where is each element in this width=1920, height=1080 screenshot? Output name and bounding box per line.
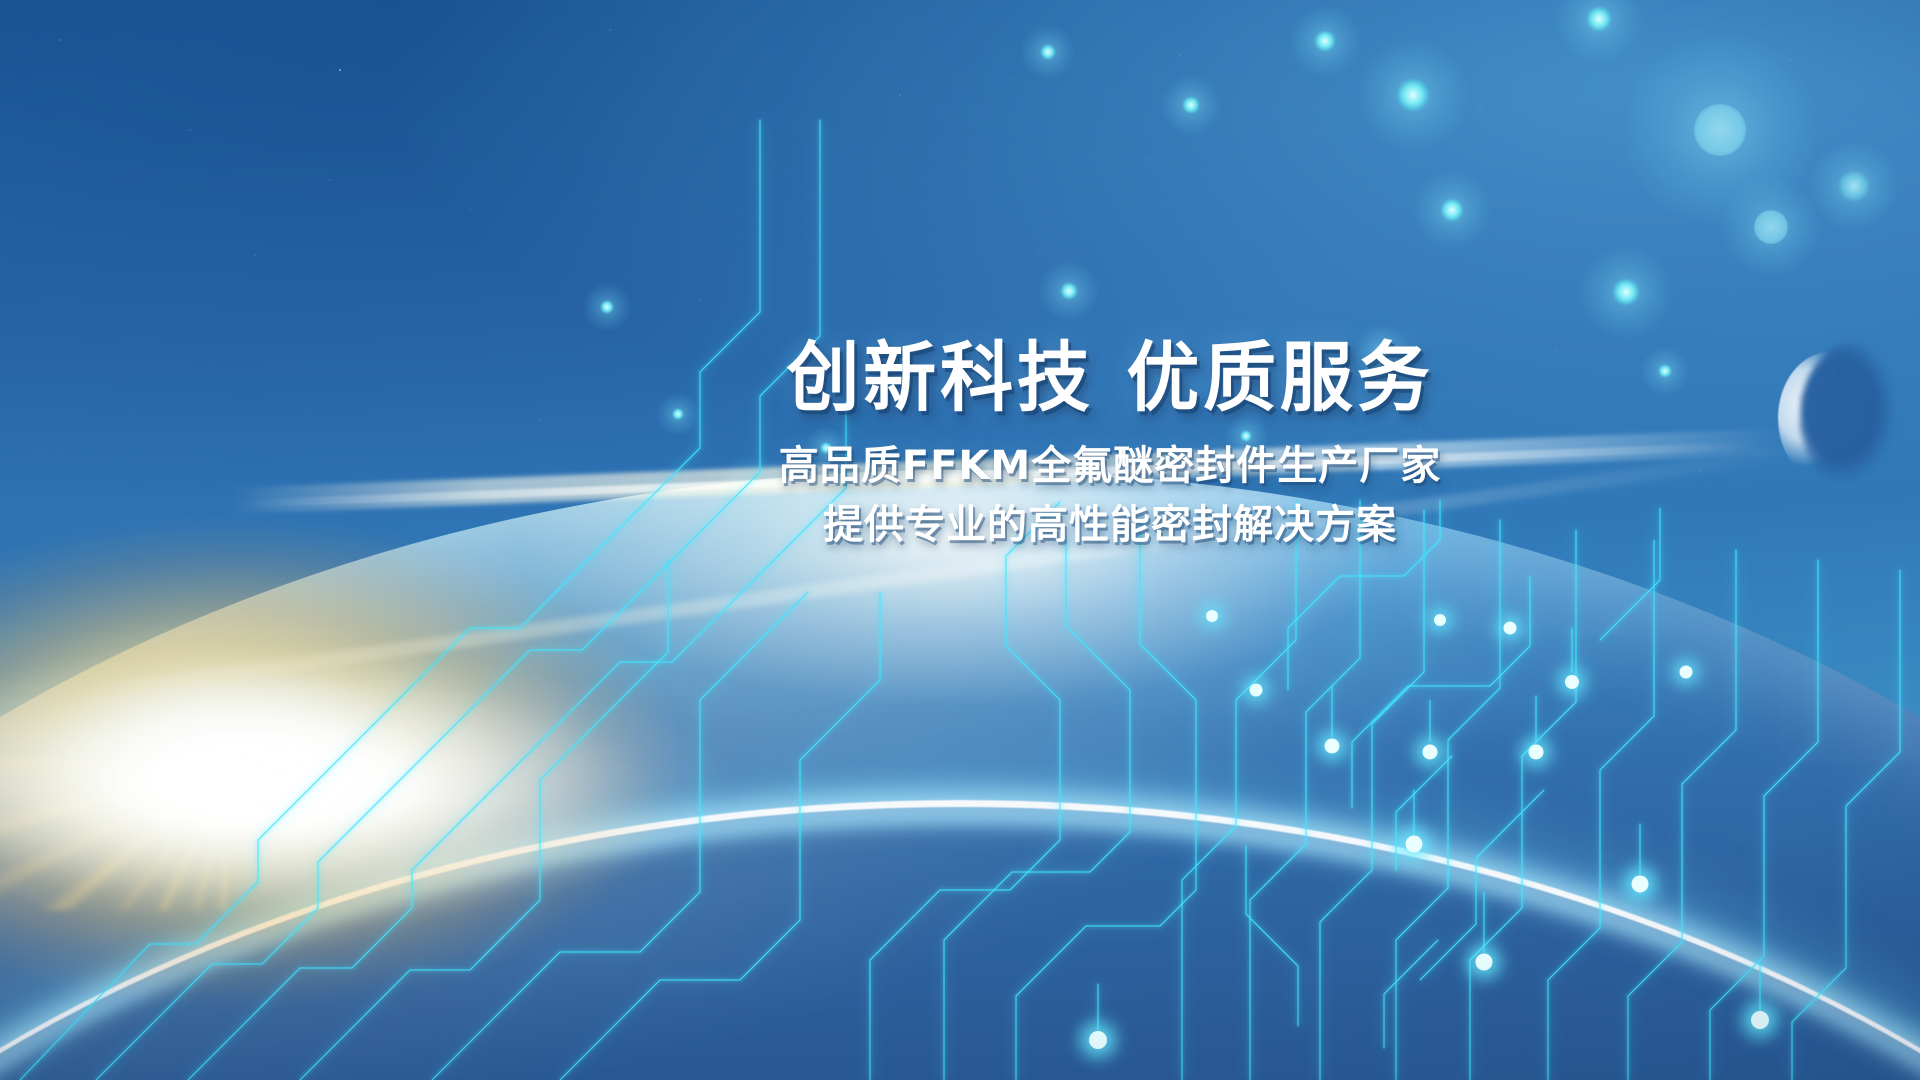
subtitle-line-2: 提供专业的高性能密封解决方案 — [660, 499, 1560, 552]
banner-copy: 创新科技优质服务 高品质FFKM全氟醚密封件生产厂家 提供专业的高性能密封解决方… — [660, 340, 1560, 552]
headline-part-1: 创新科技 — [786, 333, 1093, 422]
hero-banner: 创新科技优质服务 高品质FFKM全氟醚密封件生产厂家 提供专业的高性能密封解决方… — [0, 0, 1920, 1080]
page-title: 创新科技优质服务 — [678, 340, 1542, 416]
subtitle-line-1: 高品质FFKM全氟醚密封件生产厂家 — [660, 440, 1560, 493]
headline-part-2: 优质服务 — [1126, 333, 1433, 422]
